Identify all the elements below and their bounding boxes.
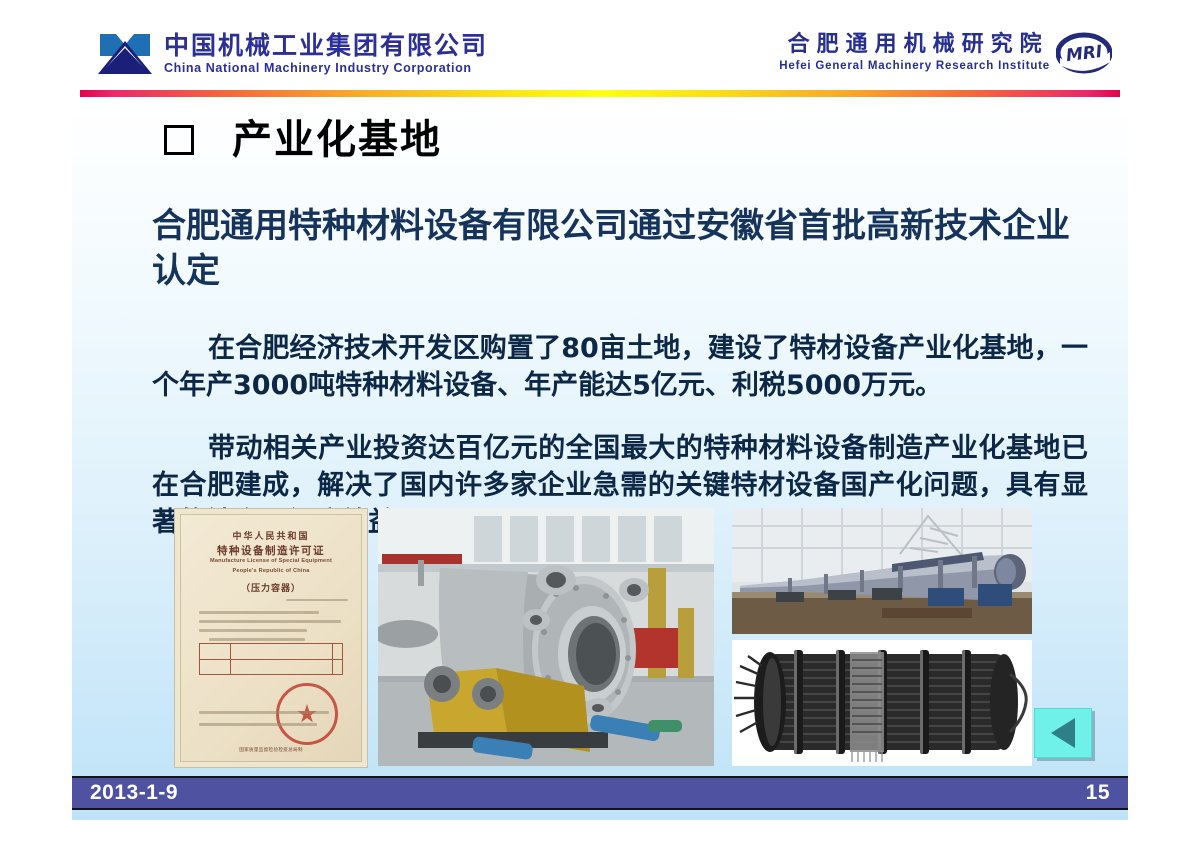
slide: 中国机械工业集团有限公司 China National Machinery In… bbox=[72, 8, 1128, 820]
official-red-seal-icon bbox=[276, 683, 338, 745]
slide-header: 中国机械工业集团有限公司 China National Machinery In… bbox=[72, 8, 1128, 88]
sinomach-logo: 中国机械工业集团有限公司 China National Machinery In… bbox=[94, 32, 488, 76]
cert-footer: 国家质量监督检验检疫总局制 bbox=[181, 747, 361, 753]
subheading: 合肥通用特种材料设备有限公司通过安徽省首批高新技术企业认定 bbox=[152, 204, 1072, 294]
sinomach-name-en: China National Machinery Industry Corpor… bbox=[164, 62, 488, 75]
cert-line1: 中华人民共和国 bbox=[181, 529, 361, 542]
slide-footer: 2013-1-9 15 bbox=[72, 776, 1128, 810]
cert-line5: （压力容器） bbox=[181, 581, 361, 594]
footer-date: 2013-1-9 bbox=[90, 781, 178, 805]
pressure-vessel-photo[interactable] bbox=[378, 508, 714, 766]
previous-slide-button[interactable] bbox=[1034, 708, 1092, 758]
hgmri-name-en: Hefei General Machinery Research Institu… bbox=[779, 61, 1050, 73]
column-vessel-photo[interactable] bbox=[732, 508, 1032, 634]
footer-page-number: 15 bbox=[1086, 781, 1110, 805]
hollow-square-bullet-icon bbox=[164, 125, 194, 155]
triangle-left-icon bbox=[1051, 718, 1075, 748]
header-rainbow-divider bbox=[80, 90, 1120, 97]
hgmri-name-cn: 合肥通用机械研究院 bbox=[779, 34, 1050, 56]
page-title: 产业化基地 bbox=[164, 120, 442, 160]
sinomach-name-cn: 中国机械工业集团有限公司 bbox=[164, 33, 488, 58]
cert-line2: 特种设备制造许可证 bbox=[181, 543, 361, 558]
sinomach-mountain-logo-icon bbox=[94, 32, 156, 76]
cert-line3: Manufacture License of Special Equipment bbox=[181, 558, 361, 564]
tube-bundle-photo[interactable] bbox=[732, 640, 1032, 766]
page-title-text: 产业化基地 bbox=[232, 120, 442, 160]
cert-line4: People's Republic of China bbox=[181, 568, 361, 574]
manufacture-license-certificate[interactable]: 中华人民共和国 特种设备制造许可证 Manufacture License of… bbox=[174, 508, 368, 768]
hgmri-logo: 合肥通用机械研究院 Hefei General Machinery Resear… bbox=[779, 32, 1112, 74]
cert-table bbox=[199, 643, 343, 675]
paragraph: 在合肥经济技术开发区购置了80亩土地，建设了特材设备产业化基地，一个年产3000… bbox=[152, 331, 1088, 404]
hgmri-oval-logo-icon: MRI bbox=[1056, 32, 1112, 74]
